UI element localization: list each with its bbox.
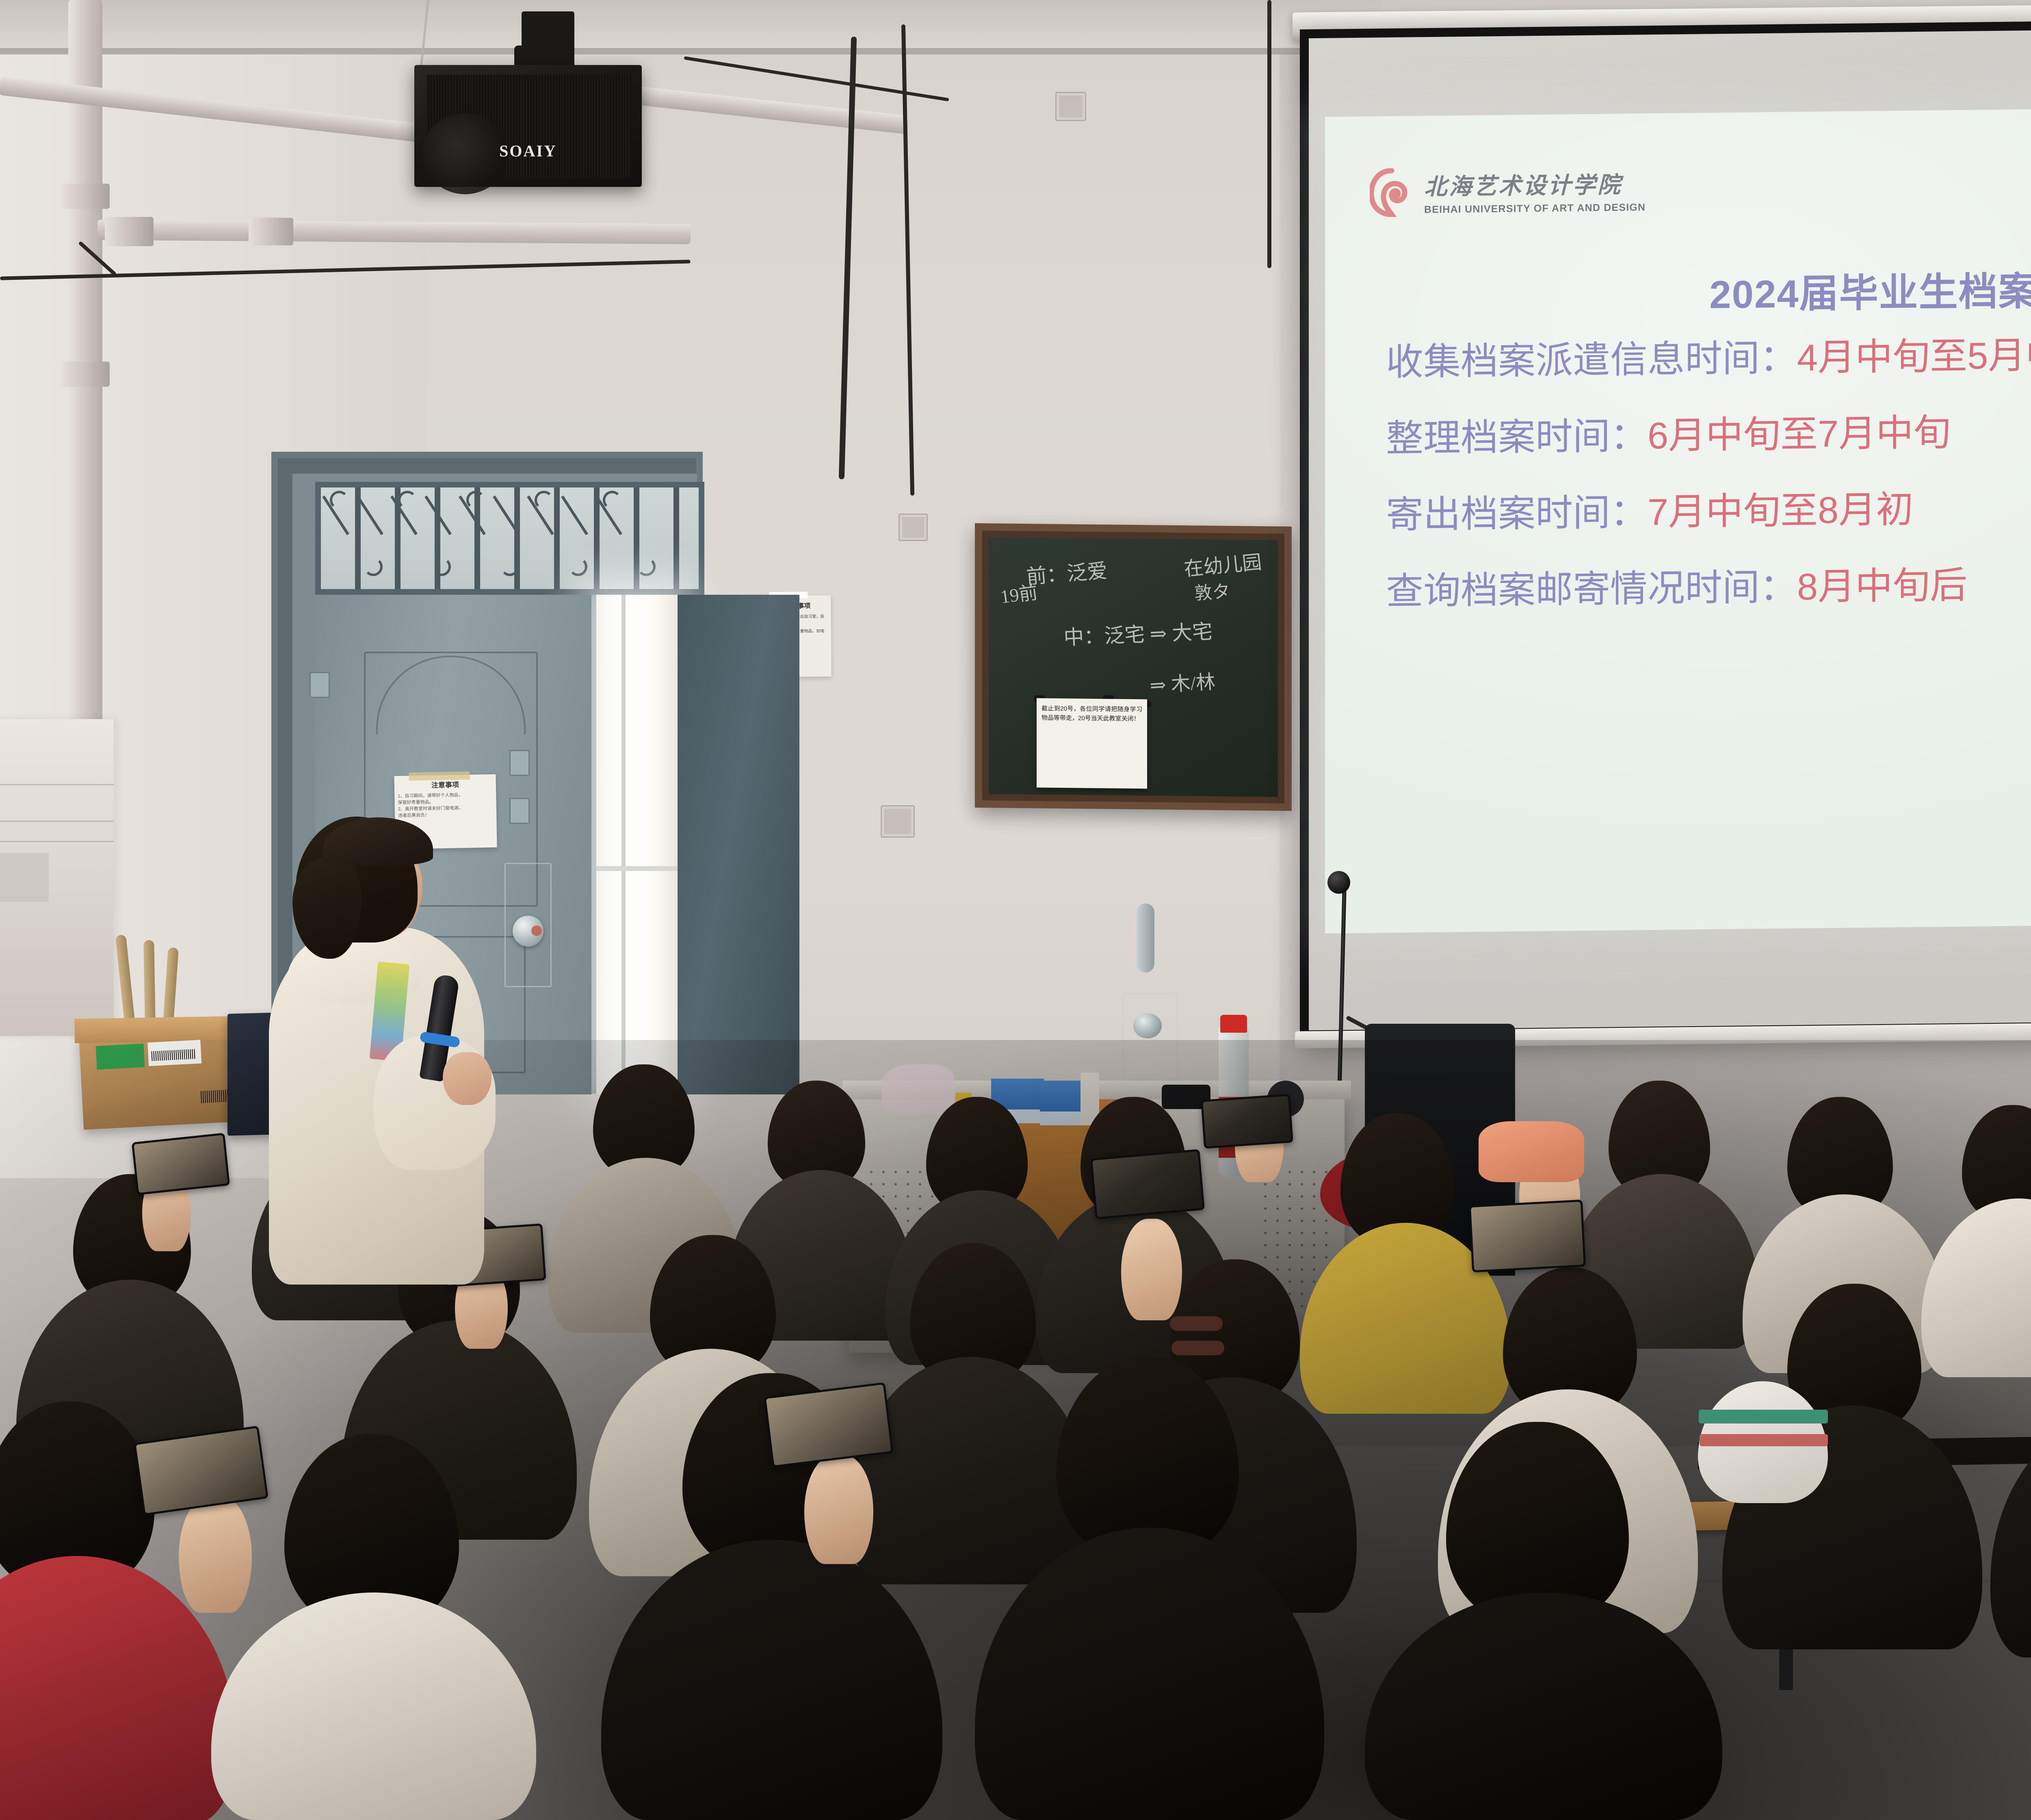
beihai-swirl-logo-icon (1370, 168, 1414, 217)
wall-switch[interactable] (899, 513, 928, 541)
blackboard-notice: 截止到20号，各位同学请把随身学习物品等带走，20号当天此教室关闭！ (1037, 698, 1147, 789)
slide-title: 2024届毕业生档案工作时间安排 (1325, 253, 2031, 324)
cabinet-label (0, 853, 49, 902)
loudspeaker: SOAIY (414, 65, 642, 187)
wall-socket-lower[interactable] (881, 805, 915, 838)
wrist-band (1170, 1316, 1223, 1331)
speaker-brand-label: SOAIY (414, 141, 642, 160)
student-hand (1121, 1219, 1182, 1320)
student-hand (179, 1495, 252, 1613)
blackboard-surface: 19前 前：泛爱 中：泛宅 ⇒ 大宅 在幼儿园 敦タ ⇒ 木/林 截止到20号，… (989, 537, 1278, 797)
schedule-label: 寄出档案时间： (1386, 492, 1648, 536)
schedule-row: 查询档案邮寄情况时间：8月中旬后 (1386, 559, 2031, 610)
presenter (252, 808, 512, 1288)
presenter-hand (443, 1052, 492, 1105)
schedule-value: 6月中旬至7月中旬 (1648, 412, 1951, 457)
pipe-joint (62, 362, 110, 387)
pipe-joint (62, 184, 110, 209)
logo-wordmark: 北海艺术设计学院 BEIHAI UNIVERSITY OF ART AND DE… (1424, 166, 1646, 216)
smartphone[interactable] (1469, 1200, 1586, 1272)
smartphone[interactable] (764, 1382, 893, 1467)
ceiling-outlet[interactable] (1055, 92, 1086, 121)
wrist-band (1171, 1341, 1224, 1355)
chalk-note: ⇒ 木/林 (1149, 666, 1216, 698)
schedule-label: 查询档案邮寄情况时间： (1386, 566, 1797, 612)
chalk-note: 敦タ (1193, 576, 1231, 604)
schedule-value: 8月中旬后 (1797, 565, 1967, 608)
blackboard-notice-text: 截止到20号，各位同学请把随身学习物品等带走，20号当天此教室关闭！ (1041, 704, 1142, 724)
schedule-row: 收集档案派遣信息时间：4月中旬至5月中旬 (1386, 330, 2031, 381)
university-name-en: BEIHAI UNIVERSITY OF ART AND DESIGN (1424, 201, 1646, 216)
schedule-label: 收集档案派遣信息时间： (1386, 337, 1797, 383)
pipe-coupling (105, 217, 154, 246)
outer-door-leaf[interactable] (678, 595, 799, 1094)
schedule-value: 7月中旬至8月初 (1648, 489, 1913, 533)
chalk-note: 在幼儿园 (1182, 546, 1263, 581)
chalk-note: 中：泛宅 ⇒ 大宅 (1063, 615, 1213, 650)
beanie-stripe (1700, 1434, 1828, 1446)
door-notice-tape (409, 771, 470, 781)
orange-jacket-sleeve (1479, 1121, 1584, 1182)
schedule-value: 4月中旬至5月中旬 (1797, 334, 2031, 379)
schedule-row: 整理档案时间：6月中旬至7月中旬 (1386, 407, 2031, 457)
chalk-note: 前：泛爱 (1025, 555, 1109, 590)
door-knob[interactable] (513, 916, 543, 947)
open-doorway-daylight (596, 595, 678, 1094)
university-name-cn: 北海艺术设计学院 (1424, 166, 1646, 201)
storage-cabinet (0, 719, 114, 1036)
outer-door-knob[interactable] (1133, 1013, 1162, 1038)
water-bottle-cap (1220, 1015, 1247, 1033)
horizontal-pipe (97, 220, 691, 244)
presenter-hair-side (292, 857, 362, 959)
doorway-rail (596, 866, 678, 871)
classroom-photo-scene: SOAIY 自习室注意事项 1、垃圾不要乱丢，请自觉带出自习室，投放至垃圾桶！ … (0, 0, 2031, 1820)
ceiling-edge (0, 48, 1381, 54)
wall-cable-right (1267, 0, 1271, 268)
transom-window (315, 482, 704, 595)
smartphone[interactable] (1201, 1094, 1293, 1148)
ceiling (0, 0, 1381, 53)
smartphone[interactable] (132, 1133, 230, 1195)
schedule-label: 整理档案时间： (1386, 415, 1648, 459)
slide-schedule-list: 收集档案派遣信息时间：4月中旬至5月中旬 整理档案时间：6月中旬至7月中旬 寄出… (1386, 330, 2031, 649)
pipe-coupling (249, 218, 293, 245)
outer-door-handle[interactable] (1137, 903, 1154, 973)
student-hand (804, 1454, 873, 1564)
projected-slide: 北海艺术设计学院 BEIHAI UNIVERSITY OF ART AND DE… (1325, 102, 2031, 934)
smartphone[interactable] (1090, 1149, 1205, 1220)
schedule-row: 寄出档案时间：7月中旬至8月初 (1386, 483, 2031, 534)
doorway-mullion (621, 595, 626, 1094)
plastic-bag (881, 1064, 955, 1113)
university-logo: 北海艺术设计学院 BEIHAI UNIVERSITY OF ART AND DE… (1370, 165, 1646, 217)
blackboard: 19前 前：泛爱 中：泛宅 ⇒ 大宅 在幼儿园 敦タ ⇒ 木/林 截止到20号，… (975, 523, 1292, 811)
boom-microphone-head (1327, 871, 1350, 894)
beanie-stripe (1699, 1410, 1828, 1423)
